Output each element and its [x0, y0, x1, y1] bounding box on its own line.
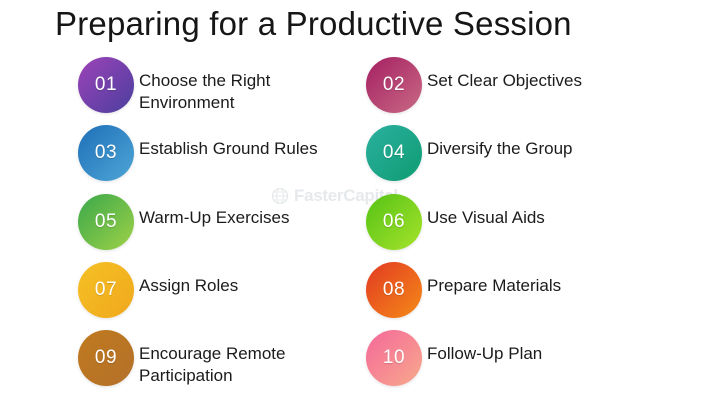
step-number: 05 — [95, 211, 117, 233]
step-item[interactable]: 06Use Visual Aids — [366, 194, 656, 256]
step-number-bubble[interactable]: 07 — [78, 262, 134, 318]
step-number: 04 — [383, 142, 405, 164]
infographic-slide: Preparing for a Productive Session Faste… — [0, 0, 720, 400]
step-number: 01 — [95, 74, 117, 96]
step-item[interactable]: 03Establish Ground Rules — [78, 125, 363, 187]
page-title: Preparing for a Productive Session — [55, 4, 572, 44]
step-label: Diversify the Group — [427, 125, 573, 160]
step-item[interactable]: 02Set Clear Objectives — [366, 57, 656, 119]
step-number-bubble[interactable]: 05 — [78, 194, 134, 250]
step-number-bubble[interactable]: 04 — [366, 125, 422, 181]
step-item[interactable]: 01Choose the Right Environment — [78, 57, 363, 119]
step-number: 07 — [95, 279, 117, 301]
step-number: 06 — [383, 211, 405, 233]
step-label: Warm-Up Exercises — [139, 194, 290, 229]
step-number-bubble[interactable]: 01 — [78, 57, 134, 113]
step-number-bubble[interactable]: 02 — [366, 57, 422, 113]
step-number: 02 — [383, 74, 405, 96]
step-item[interactable]: 04Diversify the Group — [366, 125, 656, 187]
step-number-bubble[interactable]: 10 — [366, 330, 422, 386]
step-item[interactable]: 07Assign Roles — [78, 262, 363, 324]
step-label: Assign Roles — [139, 262, 238, 297]
step-number: 08 — [383, 279, 405, 301]
step-label: Encourage Remote Participation — [139, 330, 363, 387]
step-item[interactable]: 08Prepare Materials — [366, 262, 656, 324]
step-number: 03 — [95, 142, 117, 164]
step-number-bubble[interactable]: 03 — [78, 125, 134, 181]
step-item[interactable]: 09Encourage Remote Participation — [78, 330, 363, 392]
step-label: Prepare Materials — [427, 262, 561, 297]
step-label: Establish Ground Rules — [139, 125, 318, 160]
step-number-bubble[interactable]: 08 — [366, 262, 422, 318]
step-label: Set Clear Objectives — [427, 57, 582, 92]
step-number: 09 — [95, 347, 117, 369]
step-number: 10 — [383, 347, 405, 369]
step-item[interactable]: 10Follow-Up Plan — [366, 330, 656, 392]
step-item[interactable]: 05Warm-Up Exercises — [78, 194, 363, 256]
step-label: Choose the Right Environment — [139, 57, 363, 114]
step-label: Use Visual Aids — [427, 194, 545, 229]
step-label: Follow-Up Plan — [427, 330, 542, 365]
steps-list: 01Choose the Right Environment02Set Clea… — [0, 50, 720, 400]
step-number-bubble[interactable]: 06 — [366, 194, 422, 250]
step-number-bubble[interactable]: 09 — [78, 330, 134, 386]
